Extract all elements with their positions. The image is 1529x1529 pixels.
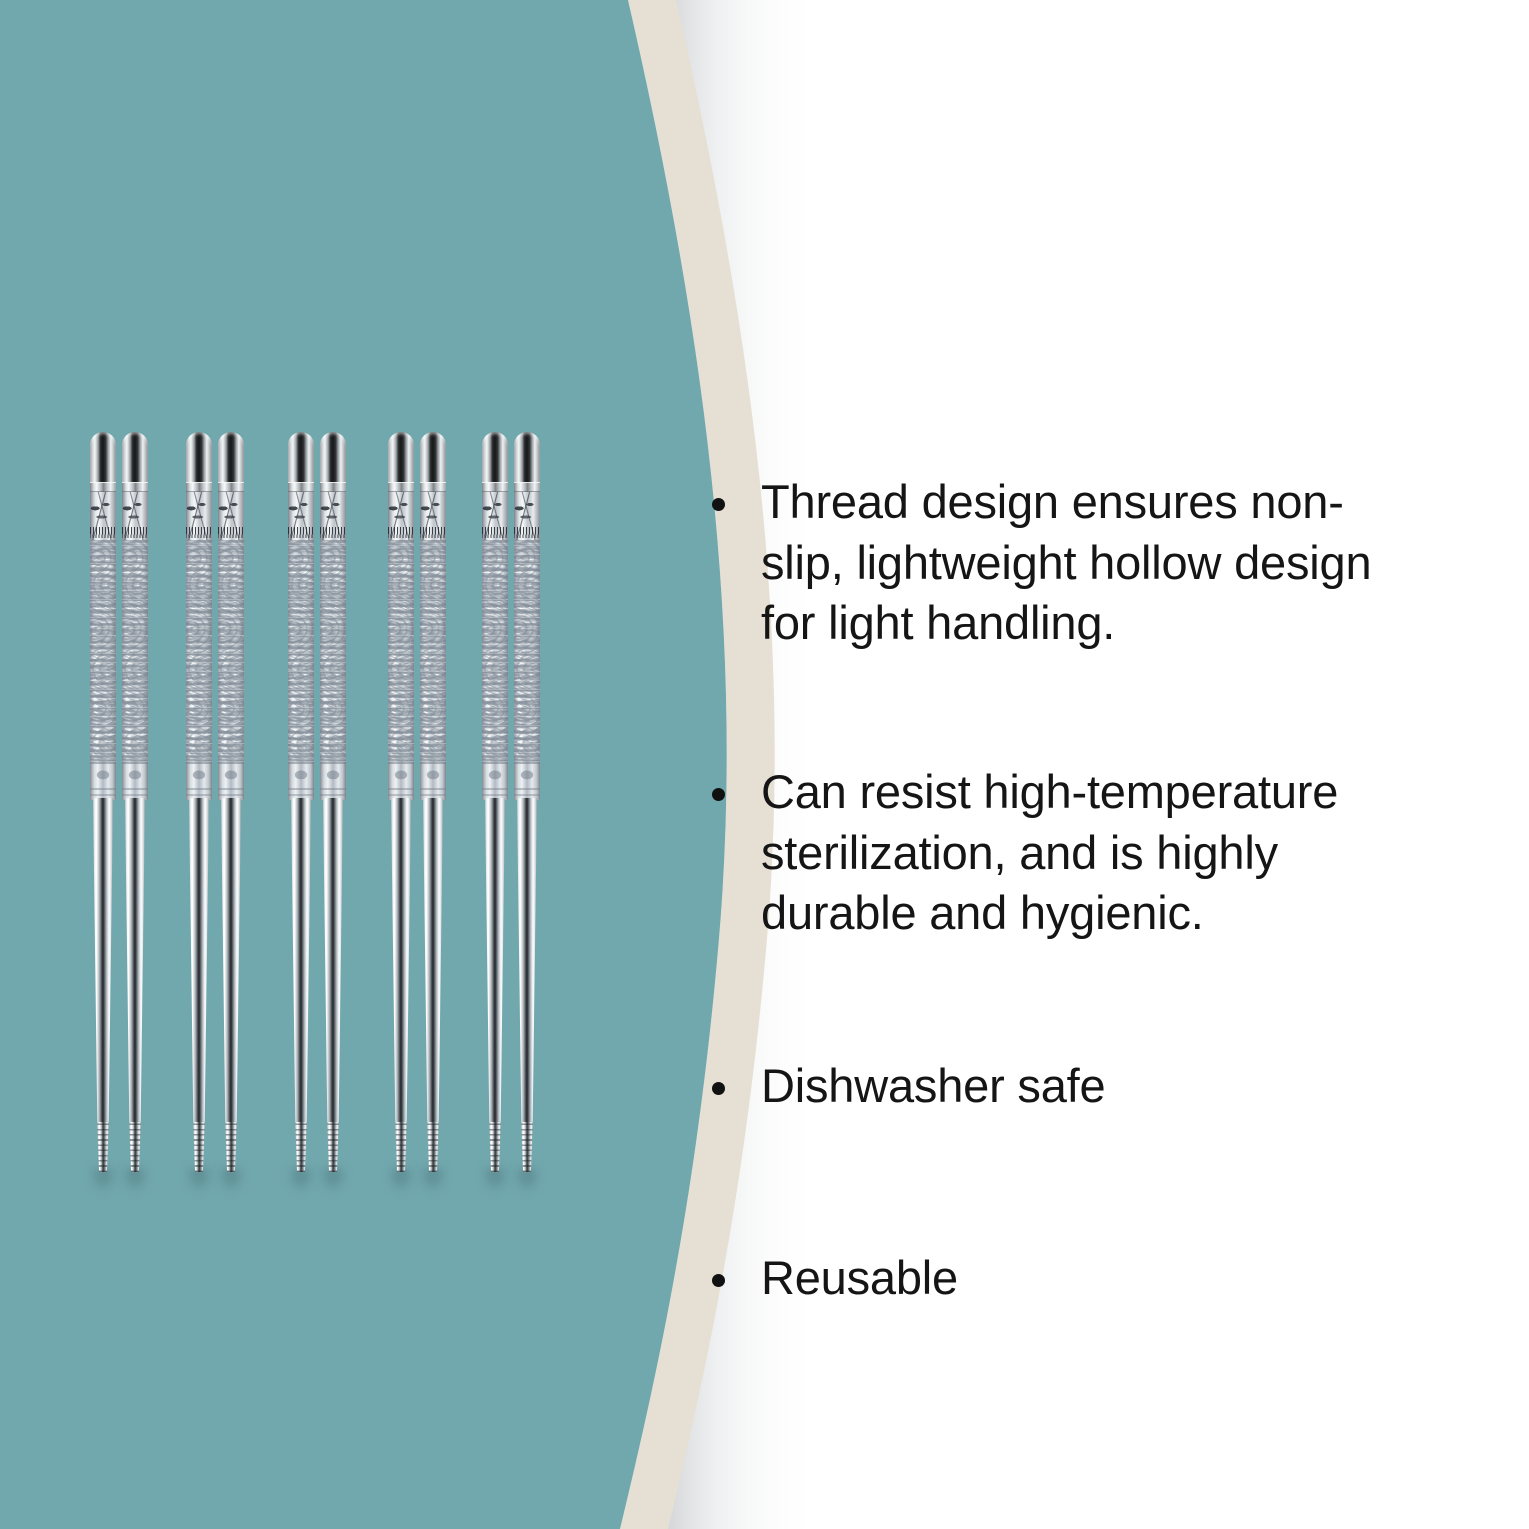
chopstick-cap-icon [482, 432, 508, 488]
scroll-pattern-handle [482, 540, 508, 762]
chopsticks-group [0, 0, 640, 1529]
chopstick-cap-icon [90, 432, 116, 488]
bullet-dot-icon [712, 498, 725, 511]
feature-bullet-list: Thread design ensures non-slip, lightwei… [712, 0, 1472, 1529]
ornamental-collar [320, 762, 346, 800]
chopstick-cap-icon [186, 432, 212, 488]
cap-collar [218, 482, 244, 492]
scroll-pattern-handle [90, 540, 116, 762]
ornamental-collar [186, 762, 212, 800]
engraved-scene-band [388, 492, 414, 540]
chopstick-cap-icon [122, 432, 148, 488]
polished-shaft [291, 798, 311, 1128]
ornamental-collar [288, 762, 314, 800]
polished-shaft [423, 798, 443, 1128]
bullet-text-thread-design: Thread design ensures non-slip, lightwei… [761, 472, 1424, 654]
ornamental-collar [90, 762, 116, 800]
scroll-pattern-handle [122, 540, 148, 762]
engraved-scene-band [514, 492, 540, 540]
bullet-text-high-temperature: Can resist high-temperature sterilizatio… [761, 762, 1424, 944]
ornamental-collar [482, 762, 508, 800]
cap-collar [420, 482, 446, 492]
ribbed-tip [225, 1122, 237, 1172]
engraved-scene-band [482, 492, 508, 540]
chopstick-shadow [116, 1168, 154, 1224]
scroll-pattern-handle [514, 540, 540, 762]
cap-collar [388, 482, 414, 492]
chopstick-shadow [314, 1168, 352, 1224]
chopstick-cap-icon [320, 432, 346, 488]
polished-shaft [189, 798, 209, 1128]
ribbed-tip [327, 1122, 339, 1172]
ornamental-collar [388, 762, 414, 800]
cap-collar [482, 482, 508, 492]
engraved-scene-band [420, 492, 446, 540]
chopstick-cap-icon [218, 432, 244, 488]
chopstick-cap-icon [420, 432, 446, 488]
polished-shaft [221, 798, 241, 1128]
polished-shaft [517, 798, 537, 1128]
ornamental-collar [122, 762, 148, 800]
polished-shaft [391, 798, 411, 1128]
scroll-pattern-handle [420, 540, 446, 762]
ornamental-collar [218, 762, 244, 800]
polished-shaft [323, 798, 343, 1128]
polished-shaft [125, 798, 145, 1128]
chopstick-cap-icon [514, 432, 540, 488]
ornamental-collar [420, 762, 446, 800]
list-item: Thread design ensures non-slip, lightwei… [712, 472, 1424, 654]
bullet-dot-icon [712, 1082, 725, 1095]
chopstick-shadow [212, 1168, 250, 1224]
engraved-scene-band [288, 492, 314, 540]
ribbed-tip [97, 1122, 109, 1172]
chopstick-cap-icon [388, 432, 414, 488]
scroll-pattern-handle [186, 540, 212, 762]
scroll-pattern-handle [288, 540, 314, 762]
engraved-scene-band [218, 492, 244, 540]
ornamental-collar [514, 762, 540, 800]
list-item: Dishwasher safe [712, 1056, 1424, 1117]
ribbed-tip [521, 1122, 533, 1172]
cap-collar [514, 482, 540, 492]
engraved-scene-band [122, 492, 148, 540]
ribbed-tip [193, 1122, 205, 1172]
cap-collar [186, 482, 212, 492]
engraved-scene-band [90, 492, 116, 540]
engraved-scene-band [186, 492, 212, 540]
product-infographic: Thread design ensures non-slip, lightwei… [0, 0, 1529, 1529]
chopstick-shadow [414, 1168, 452, 1224]
scroll-pattern-handle [388, 540, 414, 762]
chopstick-cap-icon [288, 432, 314, 488]
bullet-text-reusable: Reusable [761, 1248, 958, 1309]
cap-collar [90, 482, 116, 492]
bullet-dot-icon [712, 788, 725, 801]
list-item: Reusable [712, 1248, 1424, 1309]
cap-collar [122, 482, 148, 492]
engraved-scene-band [320, 492, 346, 540]
cap-collar [320, 482, 346, 492]
polished-shaft [485, 798, 505, 1128]
ribbed-tip [129, 1122, 141, 1172]
bullet-dot-icon [712, 1274, 725, 1287]
chopstick-shadow [508, 1168, 546, 1224]
ribbed-tip [427, 1122, 439, 1172]
list-item: Can resist high-temperature sterilizatio… [712, 762, 1424, 944]
ribbed-tip [295, 1122, 307, 1172]
ribbed-tip [395, 1122, 407, 1172]
scroll-pattern-handle [320, 540, 346, 762]
ribbed-tip [489, 1122, 501, 1172]
polished-shaft [93, 798, 113, 1128]
scroll-pattern-handle [218, 540, 244, 762]
bullet-text-dishwasher-safe: Dishwasher safe [761, 1056, 1105, 1117]
cap-collar [288, 482, 314, 492]
